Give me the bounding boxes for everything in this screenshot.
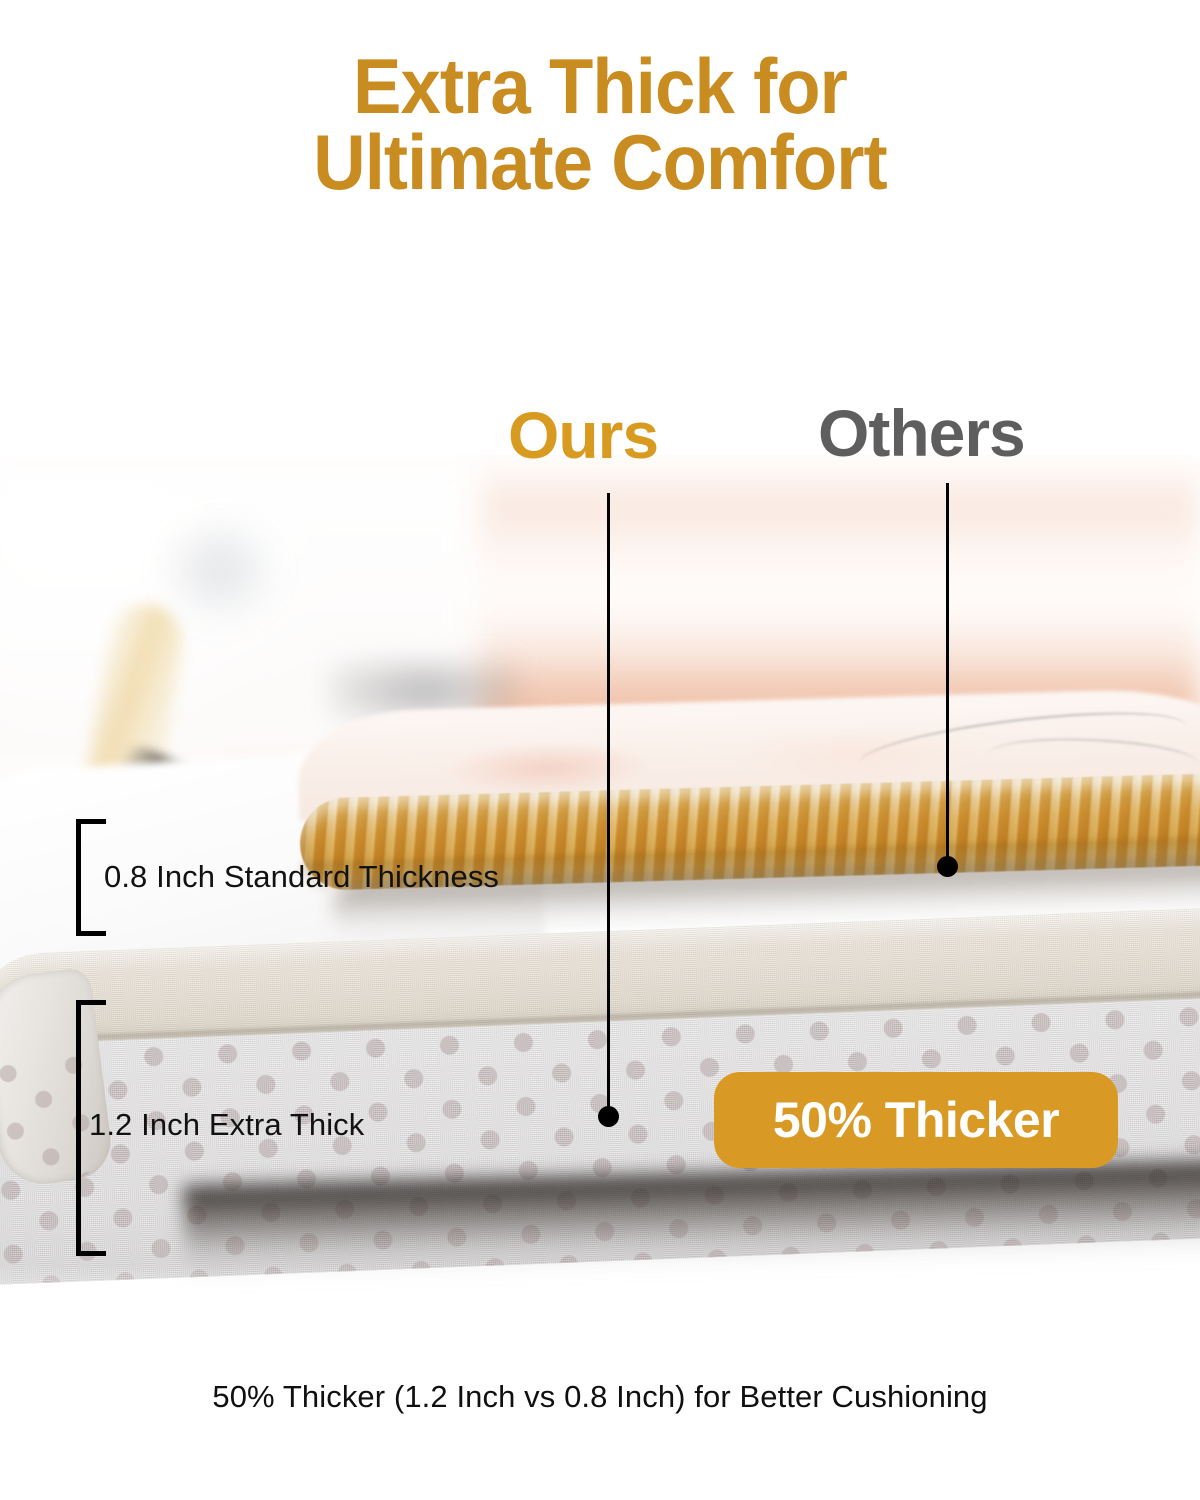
infographic-page: Extra Thick for Ultimate Comfort [0,0,1200,1500]
badge-label: 50% Thicker [773,1091,1059,1149]
leader-line-ours [607,493,610,1117]
product-photo [0,455,1200,1360]
leader-dot-ours [598,1106,619,1127]
label-others: Others [818,400,1025,466]
leader-dot-others [937,856,958,877]
page-title: Extra Thick for Ultimate Comfort [42,48,1158,201]
floor-fade-gradient [0,1265,1200,1360]
label-ours: Ours [508,402,658,468]
bracket-standard-thickness [76,819,106,936]
status-badge: 50% Thicker [714,1072,1118,1168]
leader-line-others [946,483,949,867]
footer-caption: 50% Thicker (1.2 Inch vs 0.8 Inch) for B… [0,1379,1200,1415]
measurement-label-extra: 1.2 Inch Extra Thick [89,1107,364,1143]
measurement-label-standard: 0.8 Inch Standard Thickness [104,859,499,895]
blurred-gray-object-2 [160,515,280,625]
